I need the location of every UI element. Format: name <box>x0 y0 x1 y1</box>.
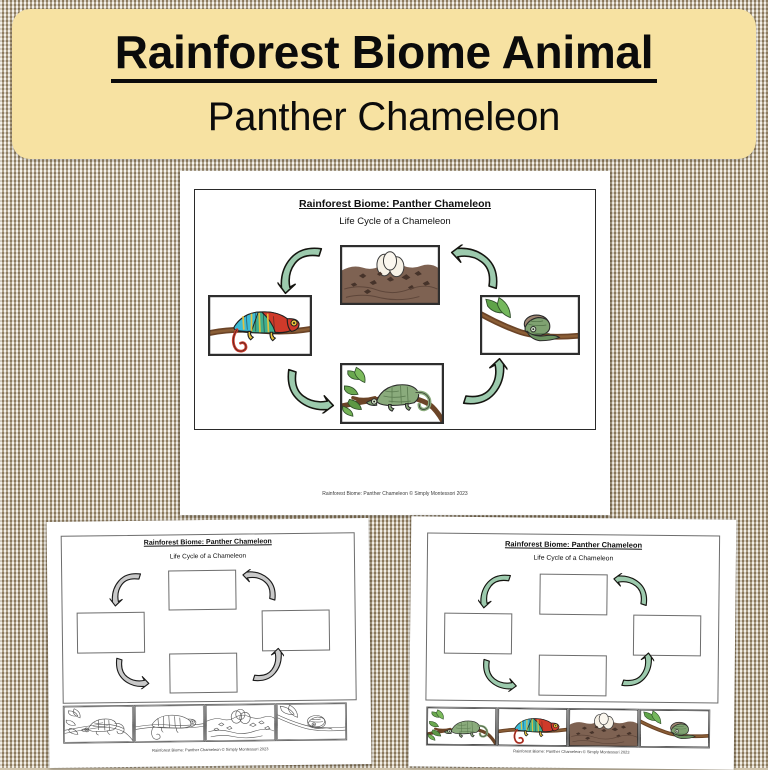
color-arrow-bottom-left <box>479 650 519 694</box>
bw-arrow-bottom-right <box>244 647 287 685</box>
bw-arrow-top-right <box>241 566 279 609</box>
blank-box-left[interactable] <box>77 612 145 654</box>
cutout-hatchling-on-branch[interactable] <box>276 702 347 741</box>
blank-box-top[interactable] <box>168 570 236 611</box>
picture-eggs-in-soil[interactable] <box>340 245 440 305</box>
blank-box-bottom[interactable] <box>169 653 237 694</box>
picture-hatchling-on-branch[interactable] <box>480 295 580 355</box>
bw-arrow-bottom-left <box>112 649 150 692</box>
color-cutout-juvenile-chameleon[interactable] <box>426 706 497 746</box>
main-worksheet-page[interactable]: Rainforest Biome: Panther Chameleon Life… <box>180 171 610 515</box>
cutout-juvenile-chameleon[interactable] <box>63 705 134 744</box>
color-arrow-top-right <box>612 571 652 615</box>
title-banner: Rainforest Biome Animal Panther Chameleo… <box>12 9 756 159</box>
cutout-adult-panther-chameleon[interactable] <box>134 704 205 743</box>
color-arrow-bottom-right <box>613 651 657 691</box>
picture-adult-panther-chameleon[interactable] <box>208 295 312 356</box>
bw-sheet-footer: Rainforest Biome: Panther Chameleon © Si… <box>49 745 371 754</box>
arrow-juvenile-to-adult <box>282 357 336 417</box>
picture-juvenile-chameleon[interactable] <box>340 363 444 424</box>
banner-title-line2: Panther Chameleon <box>208 95 560 140</box>
color-blank-box-left[interactable] <box>444 613 512 655</box>
arrow-hatchling-to-juvenile <box>451 356 511 410</box>
color-sheet-footer: Rainforest Biome: Panther Chameleon © Si… <box>409 747 734 755</box>
main-sheet-subtitle: Life Cycle of a Chameleon <box>180 216 610 227</box>
arrow-adult-to-eggs <box>274 242 334 296</box>
cutout-eggs-in-soil[interactable] <box>205 703 276 742</box>
arrow-eggs-to-hatchling <box>449 241 503 301</box>
color-cutout-eggs-in-soil[interactable] <box>568 708 639 748</box>
color-cutout-adult-panther-chameleon[interactable] <box>497 707 568 747</box>
banner-title-line1: Rainforest Biome Animal <box>111 28 657 84</box>
color-arrow-top-left <box>476 570 520 610</box>
color-worksheet-page[interactable]: Rainforest Biome: Panther Chameleon Life… <box>409 516 737 769</box>
color-cutout-hatchling-on-branch[interactable] <box>639 709 710 749</box>
blank-box-right[interactable] <box>262 610 330 652</box>
blackwhite-worksheet-page[interactable]: Rainforest Biome: Panther Chameleon Life… <box>47 518 372 768</box>
color-blank-box-bottom[interactable] <box>538 655 606 697</box>
main-sheet-footer: Rainforest Biome: Panther Chameleon © Si… <box>180 491 610 497</box>
main-sheet-title: Rainforest Biome: Panther Chameleon <box>180 198 610 210</box>
color-blank-box-right[interactable] <box>633 615 701 657</box>
color-blank-box-top[interactable] <box>539 574 607 616</box>
bw-arrow-top-left <box>107 570 150 608</box>
